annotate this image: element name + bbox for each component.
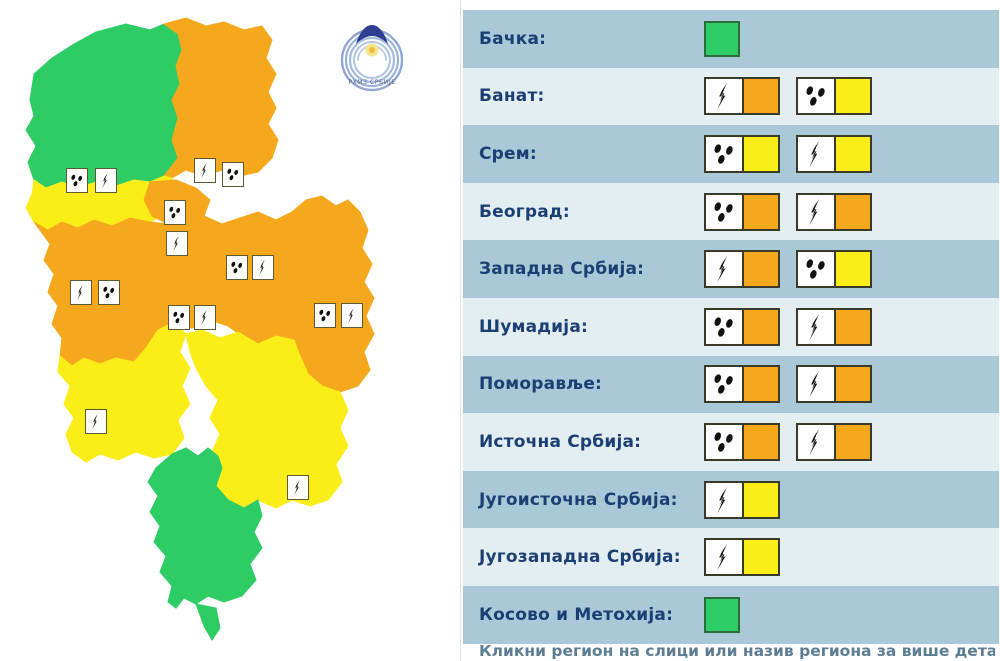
map-region-zapadna-srbija[interactable]	[34, 218, 156, 366]
region-warning-badges	[704, 193, 872, 231]
warning-level-swatch	[744, 137, 778, 171]
warning-badge	[704, 481, 780, 519]
svg-text:РХМЗ СРБИЈЕ: РХМЗ СРБИЈЕ	[348, 79, 395, 86]
region-row-label[interactable]: Источна Србија:	[479, 432, 704, 452]
region-warning-badges	[704, 77, 872, 115]
map-thunderstorm-icon	[194, 158, 216, 183]
warning-level-swatch	[744, 367, 778, 401]
no-warning-green-square	[704, 21, 740, 57]
region-row-label[interactable]: Срем:	[479, 144, 704, 164]
region-row-label[interactable]: Банат:	[479, 86, 704, 106]
region-row[interactable]: Југозападна Србија:	[463, 528, 999, 586]
region-row-label[interactable]: Југозападна Србија:	[479, 547, 704, 567]
warning-level-swatch	[836, 252, 870, 286]
region-warning-list-panel: Бачка:Банат:Срем:Београд:Западна Србија:…	[460, 0, 1000, 661]
map-rain-icon	[314, 303, 336, 328]
warning-page: РХМЗ СРБИЈЕ Бачка:Банат:Срем:Београд:Зап…	[0, 0, 1000, 661]
region-row[interactable]: Банат:	[463, 68, 999, 126]
map-thunderstorm-icon	[95, 168, 117, 193]
warning-level-swatch	[744, 252, 778, 286]
no-warning-green-square	[704, 597, 740, 633]
map-thunderstorm-icon	[85, 409, 107, 434]
thunderstorm-icon	[798, 195, 836, 229]
warning-level-swatch	[744, 79, 778, 113]
region-row-label[interactable]: Југоисточна Србија:	[479, 490, 704, 510]
warning-badge	[704, 250, 780, 288]
map-region-kosovo-tail[interactable]	[196, 604, 220, 640]
map-thunderstorm-icon	[166, 231, 188, 256]
map-rain-icon	[164, 200, 186, 225]
region-warning-badges	[704, 365, 872, 403]
warning-badge	[704, 423, 780, 461]
region-row[interactable]: Поморавље:	[463, 356, 999, 414]
region-row-label[interactable]: Београд:	[479, 202, 704, 222]
warning-badge	[704, 135, 780, 173]
warning-level-swatch	[836, 425, 870, 459]
warning-level-swatch	[836, 137, 870, 171]
map-region-banat[interactable]	[164, 18, 278, 178]
region-warning-badges	[704, 481, 780, 519]
warning-badge	[796, 135, 872, 173]
region-row[interactable]: Шумадија:	[463, 298, 999, 356]
region-row[interactable]: Југоисточна Србија:	[463, 471, 999, 529]
warning-badge	[704, 538, 780, 576]
warning-badge	[796, 365, 872, 403]
warning-level-swatch	[836, 79, 870, 113]
region-row[interactable]: Београд:	[463, 183, 999, 241]
region-warning-badges	[704, 423, 872, 461]
map-thunderstorm-icon	[194, 305, 216, 330]
region-warning-list: Бачка:Банат:Срем:Београд:Западна Србија:…	[463, 10, 999, 644]
region-warning-badges	[704, 250, 872, 288]
rain-icon	[706, 195, 744, 229]
rain-icon	[706, 137, 744, 171]
warning-badge	[704, 77, 780, 115]
warning-level-swatch	[836, 310, 870, 344]
warning-level-swatch	[836, 195, 870, 229]
serbia-map[interactable]	[0, 0, 460, 661]
map-thunderstorm-icon	[70, 280, 92, 305]
warning-badge	[704, 193, 780, 231]
rhmz-logo: РХМЗ СРБИЈЕ	[336, 14, 408, 92]
map-thunderstorm-icon	[287, 475, 309, 500]
warning-badge	[796, 423, 872, 461]
thunderstorm-icon	[706, 483, 744, 517]
region-row[interactable]: Западна Србија:	[463, 240, 999, 298]
rain-icon	[706, 425, 744, 459]
thunderstorm-icon	[798, 425, 836, 459]
thunderstorm-icon	[706, 79, 744, 113]
rain-icon	[798, 79, 836, 113]
region-warning-badges	[704, 538, 780, 576]
warning-level-swatch	[744, 483, 778, 517]
warning-badge	[704, 365, 780, 403]
region-warning-badges	[704, 21, 740, 57]
region-warning-badges	[704, 597, 740, 633]
warning-level-swatch	[744, 195, 778, 229]
warning-badge	[796, 193, 872, 231]
region-row[interactable]: Срем:	[463, 125, 999, 183]
rain-icon	[706, 310, 744, 344]
footer-hint: Кликни регион на слици или назив региона…	[479, 642, 995, 660]
region-row[interactable]: Бачка:	[463, 10, 999, 68]
warning-level-swatch	[744, 425, 778, 459]
rain-icon	[798, 252, 836, 286]
thunderstorm-icon	[706, 252, 744, 286]
region-row[interactable]: Источна Србија:	[463, 413, 999, 471]
warning-badge	[796, 250, 872, 288]
map-region-backa[interactable]	[26, 24, 182, 188]
warning-level-swatch	[744, 540, 778, 574]
thunderstorm-icon	[706, 540, 744, 574]
map-rain-icon	[226, 255, 248, 280]
region-row-label[interactable]: Поморавље:	[479, 374, 704, 394]
map-rain-icon	[168, 305, 190, 330]
region-row-label[interactable]: Западна Србија:	[479, 259, 704, 279]
warning-badge	[796, 77, 872, 115]
map-rain-icon	[66, 168, 88, 193]
warning-badge	[704, 308, 780, 346]
rain-icon	[706, 367, 744, 401]
thunderstorm-icon	[798, 310, 836, 344]
region-warning-badges	[704, 135, 872, 173]
map-thunderstorm-icon	[341, 303, 363, 328]
map-rain-icon	[98, 280, 120, 305]
map-rain-icon	[222, 162, 244, 187]
warning-level-swatch	[836, 367, 870, 401]
region-row-label[interactable]: Бачка:	[479, 29, 704, 49]
thunderstorm-icon	[798, 367, 836, 401]
region-warning-badges	[704, 308, 872, 346]
map-thunderstorm-icon	[252, 255, 274, 280]
region-row[interactable]: Косово и Метохија:	[463, 586, 999, 644]
region-row-label[interactable]: Косово и Метохија:	[479, 605, 704, 625]
warning-badge	[796, 308, 872, 346]
warning-level-swatch	[744, 310, 778, 344]
map-panel: РХМЗ СРБИЈЕ	[0, 0, 460, 661]
region-row-label[interactable]: Шумадија:	[479, 317, 704, 337]
thunderstorm-icon	[798, 137, 836, 171]
